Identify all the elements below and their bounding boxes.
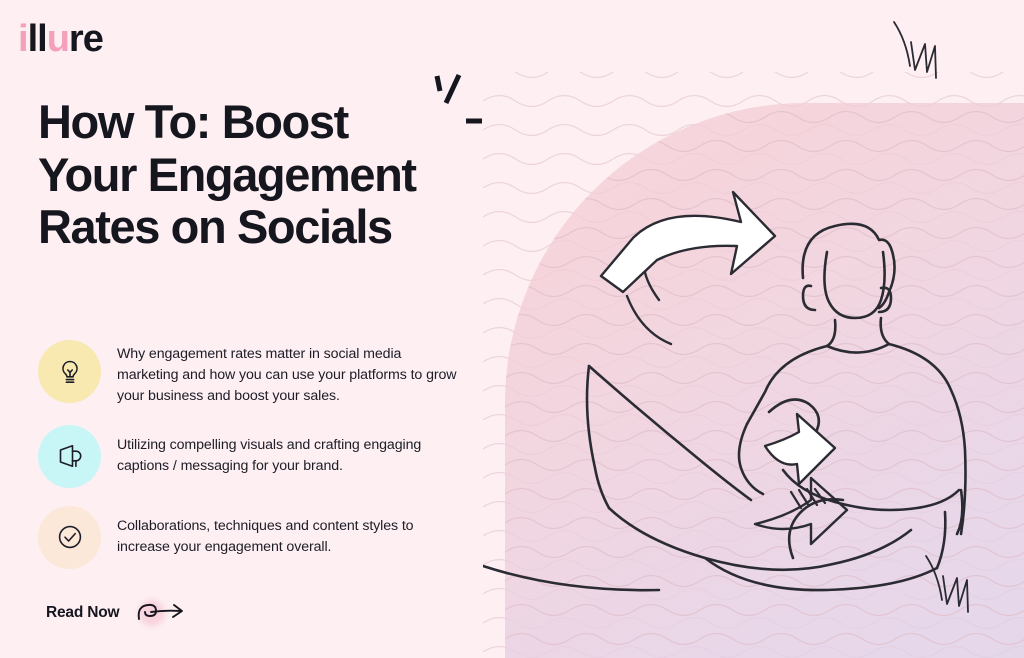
curved-arrow-icon	[135, 598, 187, 628]
lightbulb-icon	[55, 357, 85, 387]
list-item-text: Why engagement rates matter in social me…	[117, 340, 458, 407]
megaphone-icon-badge	[38, 425, 101, 488]
check-circle-icon-badge	[38, 506, 101, 569]
list-item-text: Utilizing compelling visuals and craftin…	[117, 425, 458, 477]
scribble-mark-bottom-icon	[912, 552, 978, 614]
read-now-cta[interactable]: Read Now	[46, 598, 187, 628]
page-title: How To: Boost Your Engagement Rates on S…	[38, 96, 518, 254]
read-now-label: Read Now	[46, 604, 119, 622]
check-circle-icon	[55, 522, 85, 552]
logo-part-2: ll	[28, 18, 47, 60]
logo-part-3: u	[47, 18, 69, 60]
headline-line-3: Rates on Socials	[38, 200, 392, 253]
list-item-text: Collaborations, techniques and content s…	[117, 506, 458, 558]
headline-line-2: Your Engagement	[38, 148, 416, 201]
poster-canvas: illure How To: Boost Your Engagement Rat…	[0, 0, 1024, 658]
illustration-panel	[483, 0, 1024, 658]
list-item: Utilizing compelling visuals and craftin…	[38, 425, 458, 488]
logo-part-4: re	[69, 18, 103, 60]
logo-part-1: i	[18, 18, 28, 60]
headline-line-1: How To: Boost	[38, 95, 348, 148]
read-now-arrow-wrap	[135, 598, 187, 628]
lightbulb-icon-badge	[38, 340, 101, 403]
megaphone-icon	[55, 441, 85, 471]
scribble-mark-top-icon	[880, 18, 946, 80]
feature-list: Why engagement rates matter in social me…	[38, 340, 458, 587]
list-item: Why engagement rates matter in social me…	[38, 340, 458, 407]
brand-logo[interactable]: illure	[18, 20, 103, 58]
list-item: Collaborations, techniques and content s…	[38, 506, 458, 569]
